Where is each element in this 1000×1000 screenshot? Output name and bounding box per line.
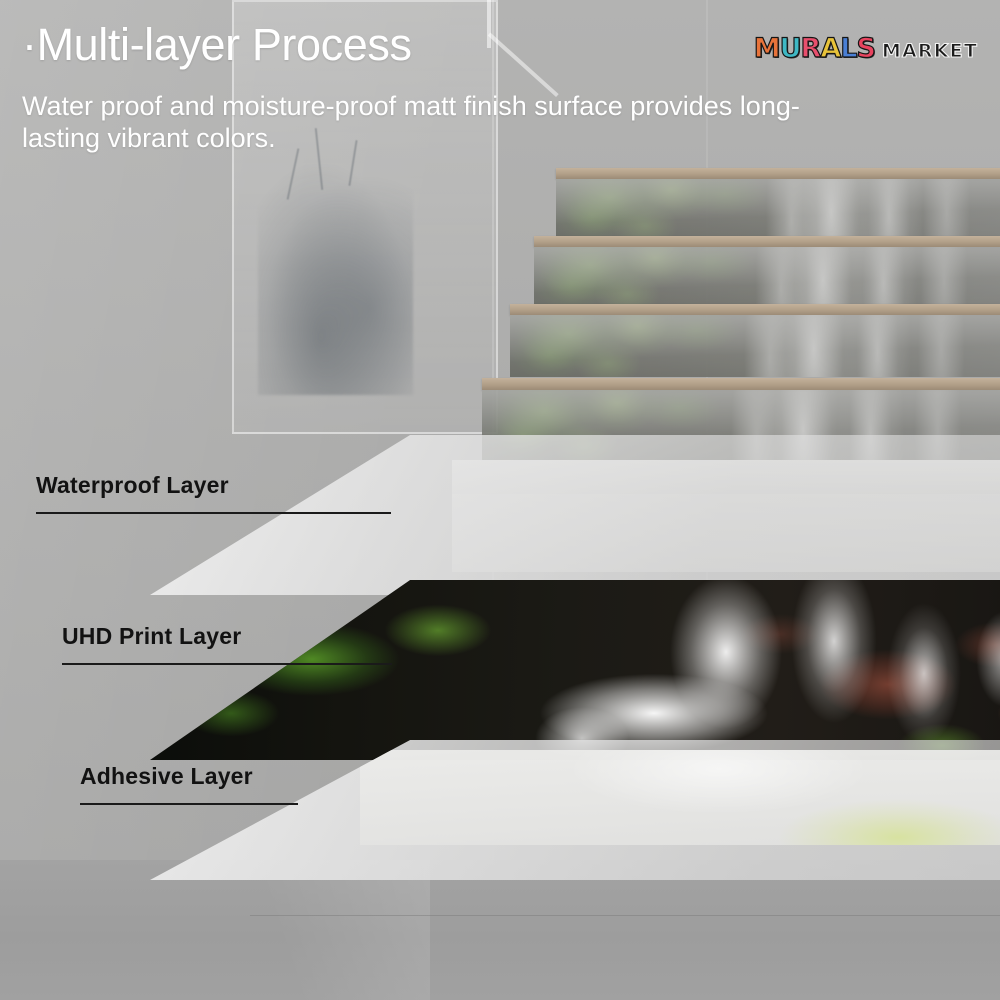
callout-adhesive-layer: Adhesive Layer	[80, 765, 298, 805]
brand-logo: MURALS MARKET	[754, 33, 978, 64]
infographic-canvas: Waterproof Layer UHD Print Layer Adhesiv…	[0, 0, 1000, 1000]
callout-uhd-rule	[62, 663, 392, 665]
floor-seam-line	[250, 915, 1000, 916]
floor	[0, 860, 1000, 1000]
stair-riser	[510, 315, 1000, 377]
brand-logo-letter-3: A	[820, 33, 840, 64]
stair-nosing	[510, 304, 1000, 315]
adhesive-layer-sheet	[150, 740, 1000, 880]
mural-haze-overlay	[510, 315, 1000, 377]
stair-nosing	[534, 236, 1000, 247]
waterproof-layer-sheet	[150, 435, 1000, 595]
stair-riser	[556, 179, 1000, 239]
brand-logo-letter-5: S	[856, 33, 874, 64]
brand-logo-letter-2: R	[801, 33, 821, 64]
page-title: ·Multi-layer Process	[22, 22, 822, 67]
brand-logo-murals: MURALS	[754, 33, 875, 64]
adhesive-layer-surface	[150, 740, 1000, 880]
heading-block: ·Multi-layer Process Water proof and moi…	[22, 22, 822, 155]
callout-adhesive-label: Adhesive Layer	[80, 765, 298, 788]
uhd-print-layer-surface	[150, 580, 1000, 760]
floor-light-wedge	[180, 860, 430, 1000]
brand-logo-letter-4: L	[840, 33, 856, 64]
artwork-ink-smudge	[258, 165, 413, 395]
brand-logo-market: MARKET	[882, 40, 978, 62]
callout-waterproof-rule	[36, 512, 391, 514]
mural-haze-overlay	[556, 179, 1000, 239]
callout-waterproof-layer: Waterproof Layer	[36, 474, 391, 514]
stair-riser	[534, 247, 1000, 307]
callout-uhd-print-layer: UHD Print Layer	[62, 625, 392, 665]
brand-logo-letter-1: U	[780, 33, 801, 64]
mural-haze-overlay	[534, 247, 1000, 307]
adhesive-layer-inner-panel	[360, 750, 1000, 845]
brand-logo-letter-0: M	[754, 33, 780, 64]
uhd-print-layer-sheet	[150, 580, 1000, 760]
stair-nosing	[556, 168, 1000, 179]
waterproof-layer-surface	[150, 435, 1000, 595]
page-subtitle: Water proof and moisture-proof matt fini…	[22, 91, 822, 155]
callout-adhesive-rule	[80, 803, 298, 805]
callout-waterproof-label: Waterproof Layer	[36, 474, 391, 497]
stair-nosing	[482, 378, 1000, 390]
callout-uhd-label: UHD Print Layer	[62, 625, 392, 648]
